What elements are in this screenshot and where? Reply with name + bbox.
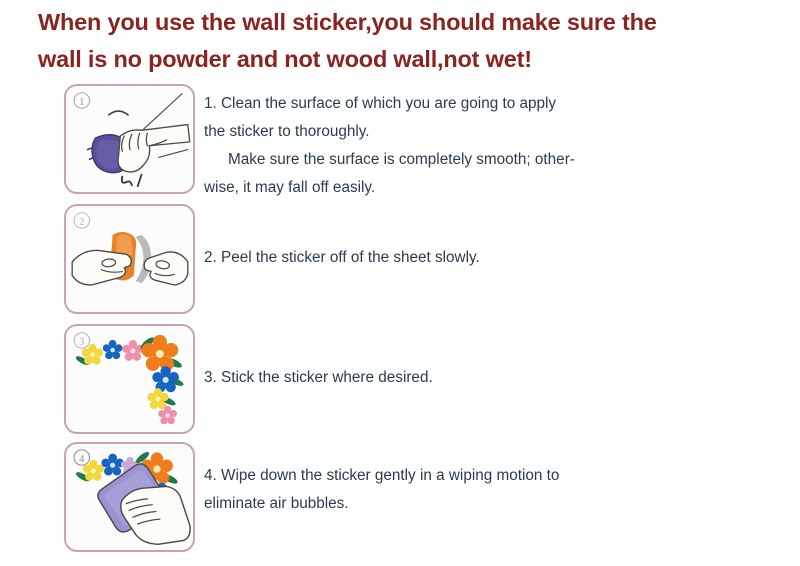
step-1-line-1: 1. Clean the surface of which you are go… (204, 90, 764, 118)
step-4-marker-icon: 4 (74, 450, 89, 465)
step-3-marker-icon: 3 (74, 333, 89, 348)
step-1-marker-icon: 1 (74, 93, 89, 108)
heading-line-2: wall is no powder and not wood wall,not … (38, 41, 758, 78)
step-item-1: 1 (0, 84, 800, 202)
svg-text:1: 1 (79, 97, 84, 108)
step-3-text: 3. Stick the sticker where desired. (204, 364, 764, 392)
svg-text:3: 3 (79, 337, 84, 348)
step-item-3: 3 (0, 324, 800, 442)
step-2-text: 2. Peel the sticker off of the sheet slo… (204, 244, 764, 272)
instruction-heading: When you use the wall sticker,you should… (38, 4, 758, 78)
step-1-line-4: wise, it may fall off easily. (204, 174, 764, 202)
step-item-2: 2 2. Peel the sticker off of the sheet s… (0, 204, 800, 322)
step-4-line-2: eliminate air bubbles. (204, 490, 764, 518)
step-3-line-1: 3. Stick the sticker where desired. (204, 364, 764, 392)
step-4-line-1: 4. Wipe down the sticker gently in a wip… (204, 462, 764, 490)
step-3-illustration-panel: 3 (64, 324, 195, 434)
svg-text:4: 4 (79, 454, 85, 465)
heading-line-1: When you use the wall sticker,you should… (38, 4, 758, 41)
svg-text:2: 2 (79, 217, 84, 228)
step-item-4: 4 (0, 442, 800, 564)
step-2-marker-icon: 2 (74, 213, 89, 228)
hand-shape (118, 125, 190, 172)
step-1-text: 1. Clean the surface of which you are go… (204, 90, 764, 202)
step-1-line-2: the sticker to thoroughly. (204, 118, 764, 146)
step-2-line-1: 2. Peel the sticker off of the sheet slo… (204, 244, 764, 272)
step-4-illustration-panel: 4 (64, 442, 195, 552)
step-4-text: 4. Wipe down the sticker gently in a wip… (204, 462, 764, 518)
flower-cluster (75, 335, 185, 424)
step-1-line-3: Make sure the surface is completely smoo… (204, 146, 764, 174)
step-2-illustration-panel: 2 (64, 204, 195, 314)
hand-shape-wiping (121, 486, 190, 544)
step-1-illustration-panel: 1 (64, 84, 195, 194)
